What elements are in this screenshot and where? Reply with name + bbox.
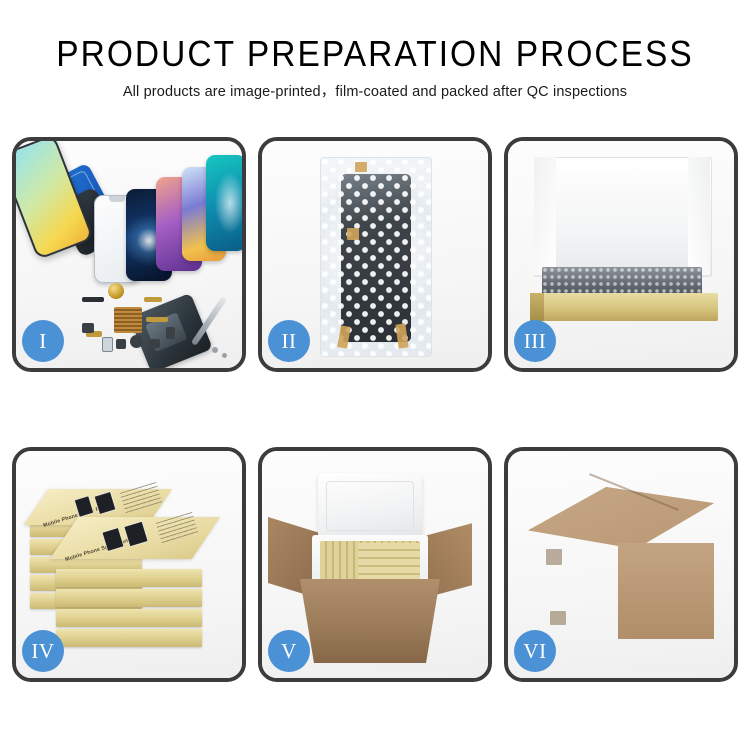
tape-top bbox=[355, 162, 367, 172]
box-stack: Mobile Phone Spare Parts Mobile Phone Sp… bbox=[26, 473, 234, 663]
carton-hand-hole-lower bbox=[550, 611, 566, 625]
step-badge-3: III bbox=[514, 320, 556, 362]
step-badge-5: V bbox=[268, 630, 310, 672]
step-badge-4: IV bbox=[22, 630, 64, 672]
outer-carton-body bbox=[300, 579, 440, 663]
box-lid-fold-right bbox=[688, 157, 710, 275]
step-panel-3: III bbox=[504, 137, 738, 372]
logic-board-chip bbox=[114, 307, 142, 333]
camera-module bbox=[130, 335, 143, 348]
small-component-c bbox=[150, 339, 160, 348]
step-2-image: II bbox=[262, 141, 488, 368]
flex-cable-c bbox=[146, 317, 168, 322]
earpiece-bar bbox=[82, 297, 104, 302]
step-badge-2: II bbox=[268, 320, 310, 362]
flex-cable-b bbox=[144, 297, 162, 302]
stacked-box-r3 bbox=[56, 609, 202, 627]
kraft-tray bbox=[530, 293, 718, 321]
box-lid-fold-left bbox=[534, 157, 556, 275]
step-panel-4: Mobile Phone Spare Parts Mobile Phone Sp… bbox=[12, 447, 246, 682]
step-4-image: Mobile Phone Spare Parts Mobile Phone Sp… bbox=[16, 451, 242, 678]
page-title: PRODUCT PREPARATION PROCESS bbox=[26, 34, 724, 74]
step-5-image: V bbox=[262, 451, 488, 678]
stacked-box-r4 bbox=[56, 629, 202, 647]
screw-b bbox=[222, 353, 227, 358]
step-panel-1: I bbox=[12, 137, 246, 372]
step-panel-6: VI bbox=[504, 447, 738, 682]
box-lid-white bbox=[534, 157, 712, 277]
poster-header: PRODUCT PREPARATION PROCESS All products… bbox=[0, 34, 750, 101]
process-step-grid: I II bbox=[12, 137, 738, 682]
step-1-image: I bbox=[16, 141, 242, 368]
stacked-box-r1 bbox=[56, 569, 202, 587]
product-preparation-poster: PRODUCT PREPARATION PROCESS All products… bbox=[0, 0, 750, 750]
carton-hand-hole-upper bbox=[546, 549, 562, 565]
step-6-image: VI bbox=[508, 451, 734, 678]
bubble-wrap-bag bbox=[320, 157, 432, 357]
tape-middle bbox=[347, 228, 359, 240]
small-component-b bbox=[116, 339, 126, 349]
phone-display-teal bbox=[206, 155, 246, 251]
kraft-tray-side bbox=[530, 293, 544, 321]
small-component-d bbox=[166, 327, 175, 339]
screw-a bbox=[212, 347, 218, 353]
step-badge-1: I bbox=[22, 320, 64, 362]
page-subtitle: All products are image-printed，film-coat… bbox=[0, 83, 750, 101]
foam-box-lid bbox=[318, 473, 422, 541]
carton-front-face bbox=[528, 533, 620, 637]
step-3-image: III bbox=[508, 141, 734, 368]
step-panel-2: II bbox=[258, 137, 492, 372]
step-panel-5: V bbox=[258, 447, 492, 682]
small-component-a bbox=[82, 323, 94, 333]
yellow-boxes-row-b bbox=[358, 543, 420, 581]
stacked-box-r2 bbox=[56, 589, 202, 607]
carton-side-face bbox=[618, 543, 714, 639]
step-badge-6: VI bbox=[514, 630, 556, 672]
bubble-texture bbox=[321, 158, 431, 356]
sim-tray bbox=[102, 337, 113, 352]
speaker-module bbox=[108, 283, 124, 299]
